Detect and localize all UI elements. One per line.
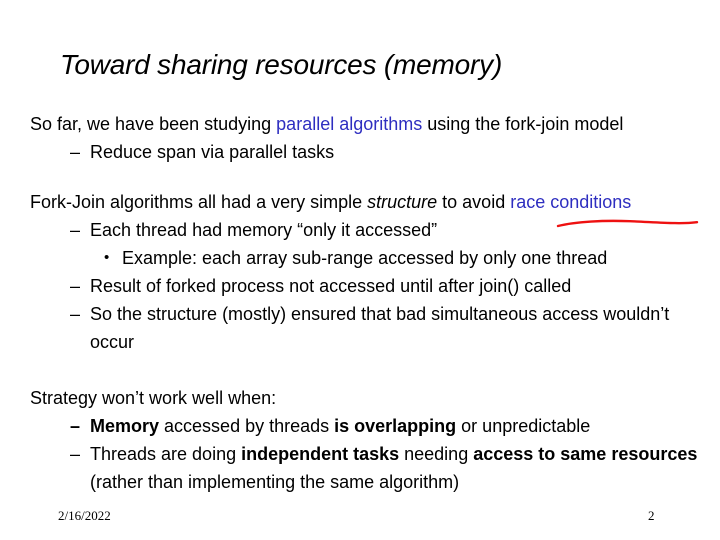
list-item-text-mid: accessed by threads — [159, 416, 334, 436]
paragraph-strategy: Strategy won’t work well when: — [30, 384, 705, 412]
highlight-race-conditions: race conditions — [510, 192, 631, 212]
list-item-label: Each thread had memory “only it accessed… — [90, 220, 437, 240]
paragraph-fork-join: Fork-Join algorithms all had a very simp… — [30, 188, 705, 216]
list-item: •Example: each array sub-range accessed … — [30, 244, 705, 272]
list-item: –Each thread had memory “only it accesse… — [30, 216, 705, 244]
list-item: –Memory accessed by threads is overlappi… — [30, 412, 705, 440]
list-item-label: Reduce span via parallel tasks — [90, 142, 334, 162]
paragraph-fork-join-middle: to avoid — [437, 192, 510, 212]
slide-canvas: Toward sharing resources (memory) So far… — [0, 0, 720, 540]
list-item-text-lead: Threads are doing — [90, 444, 241, 464]
list-item-bold-is-overlapping: is overlapping — [334, 416, 456, 436]
dash-bullet-icon: – — [70, 440, 80, 468]
list-item-text-mid: needing — [399, 444, 473, 464]
list-item: –Reduce span via parallel tasks — [30, 138, 705, 166]
footer-date: 2/16/2022 — [58, 508, 111, 524]
list-item-label: Result of forked process not accessed un… — [90, 276, 571, 296]
dash-bullet-icon: – — [70, 300, 80, 328]
paragraph-so-far-prefix: So far, we have been studying — [30, 114, 276, 134]
list-item-bold-memory: Memory — [90, 416, 159, 436]
spacer — [30, 356, 705, 384]
list-item-text-tail: (rather than implementing the same algor… — [90, 472, 459, 492]
page-title: Toward sharing resources (memory) — [60, 48, 680, 82]
highlight-parallel-algorithms: parallel algorithms — [276, 114, 422, 134]
spacer — [30, 166, 705, 188]
paragraph-fork-join-prefix: Fork-Join algorithms all had a very simp… — [30, 192, 367, 212]
list-item-label: Example: each array sub-range accessed b… — [122, 248, 607, 268]
list-item: –Threads are doing independent tasks nee… — [30, 440, 705, 496]
list-item: –So the structure (mostly) ensured that … — [30, 300, 705, 356]
paragraph-so-far-suffix: using the fork-join model — [422, 114, 623, 134]
dot-bullet-icon: • — [104, 244, 109, 272]
list-item-label: So the structure (mostly) ensured that b… — [90, 304, 669, 352]
list-item-bold-independent-tasks: independent tasks — [241, 444, 399, 464]
footer-page-number: 2 — [648, 508, 678, 524]
paragraph-so-far: So far, we have been studying parallel a… — [30, 110, 705, 138]
dash-bullet-icon: – — [70, 412, 80, 440]
dash-bullet-icon: – — [70, 216, 80, 244]
dash-bullet-icon: – — [70, 272, 80, 300]
list-item: –Result of forked process not accessed u… — [30, 272, 705, 300]
dash-bullet-icon: – — [70, 138, 80, 166]
emphasis-structure: structure — [367, 192, 437, 212]
list-item-text-tail: or unpredictable — [456, 416, 590, 436]
list-item-bold-access-to-same-resources: access to same resources — [473, 444, 697, 464]
slide-body: So far, we have been studying parallel a… — [30, 110, 705, 496]
